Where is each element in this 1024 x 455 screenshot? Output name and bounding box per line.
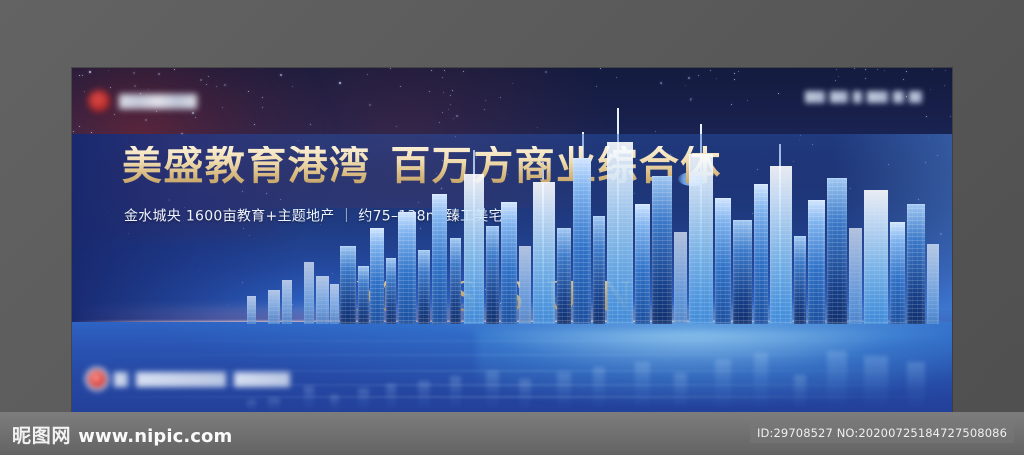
- star: [877, 69, 878, 70]
- star: [73, 131, 74, 132]
- star: [450, 104, 451, 105]
- contact-suffix-block: [234, 372, 290, 387]
- skyline-building: [304, 262, 314, 324]
- star: [174, 69, 175, 70]
- skyline-building: [890, 222, 905, 324]
- building-reflection: [450, 376, 461, 412]
- skyline-building: [533, 182, 555, 324]
- building-reflection: [304, 386, 314, 412]
- star: [310, 124, 311, 125]
- skyline-building: [501, 202, 517, 324]
- star: [133, 72, 135, 74]
- skyline-building: [282, 280, 292, 324]
- building-reflection: [754, 353, 768, 412]
- star: [484, 109, 485, 110]
- skyline-building: [557, 228, 571, 324]
- contact-info: [88, 370, 290, 388]
- star: [690, 100, 691, 101]
- star: [222, 107, 223, 108]
- star: [248, 91, 249, 92]
- skyline-building: [907, 204, 925, 324]
- star: [158, 73, 160, 75]
- star: [369, 104, 371, 106]
- star: [685, 85, 686, 86]
- star: [926, 116, 927, 117]
- skyline-building: [418, 250, 430, 324]
- skyline-building: [464, 174, 484, 324]
- star: [485, 100, 486, 101]
- star: [906, 71, 907, 72]
- star: [280, 74, 282, 76]
- star: [903, 79, 904, 80]
- skyline-building: [486, 226, 499, 324]
- star: [854, 68, 855, 69]
- star: [439, 122, 440, 123]
- star: [192, 112, 194, 114]
- skyline-building: [652, 176, 672, 324]
- screenshot-stage: MISSUNI MISSUNI 美盛教育港湾百万方商业综合体 金水城央: [0, 0, 1024, 455]
- skyline-building: [450, 238, 461, 324]
- star: [884, 70, 885, 71]
- star: [200, 79, 202, 81]
- star: [254, 124, 255, 125]
- building-reflection: [794, 375, 806, 412]
- red-circle-logo-mark: [88, 90, 110, 112]
- star: [431, 70, 432, 71]
- star: [456, 115, 458, 117]
- skyline-building: [519, 246, 531, 324]
- star: [195, 117, 196, 118]
- star: [292, 86, 293, 87]
- star: [838, 76, 839, 77]
- skyline-building: [386, 258, 396, 324]
- logo-wordmark: [119, 94, 197, 109]
- skyline-building: [635, 204, 650, 324]
- star: [224, 84, 226, 86]
- watermark-branding: 昵图网 www.nipic.com: [12, 421, 232, 448]
- star: [82, 75, 83, 76]
- star: [600, 68, 601, 69]
- star: [731, 104, 732, 105]
- star: [262, 97, 263, 98]
- star: [216, 86, 217, 87]
- watermark-image-id: ID:29708527 NO:20200725184727508086: [750, 423, 1014, 443]
- star: [339, 82, 341, 84]
- star: [262, 107, 263, 108]
- star: [655, 131, 656, 132]
- skyline-building: [370, 228, 384, 324]
- skyline-building: [715, 198, 731, 324]
- star: [734, 73, 735, 74]
- star: [698, 75, 699, 76]
- phone-circle-icon: [88, 370, 106, 388]
- skyline-building: [927, 244, 939, 324]
- star: [710, 70, 711, 71]
- star: [537, 127, 538, 128]
- star: [448, 109, 449, 110]
- watermark-bar: 昵图网 www.nipic.com ID:29708527 NO:2020072…: [0, 412, 1024, 455]
- star: [835, 80, 836, 81]
- skyline-building: [316, 276, 329, 324]
- tagline-block-2: [830, 91, 848, 103]
- water-streak: [72, 396, 952, 398]
- star: [950, 116, 951, 117]
- star: [463, 71, 464, 72]
- star: [110, 87, 111, 88]
- star: [865, 78, 866, 79]
- star: [442, 77, 443, 78]
- star: [660, 82, 662, 84]
- skyline-building: [340, 246, 356, 324]
- star: [778, 93, 779, 94]
- star: [208, 76, 209, 77]
- contact-prefix-block: [114, 372, 128, 387]
- star: [944, 85, 945, 86]
- star: [616, 77, 617, 78]
- skyline-building: [808, 200, 825, 324]
- poster-image: MISSUNI MISSUNI 美盛教育港湾百万方商业综合体 金水城央: [72, 68, 952, 412]
- star: [443, 92, 444, 93]
- star: [134, 85, 136, 87]
- developer-logo: [88, 90, 197, 112]
- skyline-building: [733, 220, 752, 324]
- star: [390, 68, 391, 69]
- skyline-building: [268, 290, 280, 324]
- water-streak: [72, 340, 952, 342]
- star: [545, 71, 547, 73]
- headline-part-1: 美盛教育港湾: [122, 143, 370, 189]
- star: [865, 69, 866, 70]
- skyline-building: [398, 212, 416, 324]
- star: [688, 77, 690, 79]
- star: [836, 69, 837, 70]
- star: [367, 74, 368, 75]
- skyline-building: [607, 142, 633, 324]
- star: [84, 91, 85, 92]
- building-reflection: [386, 384, 396, 412]
- skyline-building: [794, 236, 806, 324]
- star: [442, 112, 443, 113]
- top-right-tagline: [805, 91, 922, 103]
- skyline-building: [864, 190, 888, 324]
- star: [690, 98, 692, 100]
- tagline-block-3: [853, 91, 862, 103]
- star: [91, 132, 92, 133]
- skyline-building: [754, 184, 768, 324]
- star: [145, 119, 147, 121]
- tagline-block-6: [909, 91, 922, 103]
- skyline-building: [593, 216, 605, 324]
- building-reflection: [557, 372, 571, 412]
- building-reflection: [486, 371, 499, 412]
- star: [512, 83, 513, 84]
- watermark-site-url[interactable]: www.nipic.com: [78, 426, 232, 447]
- star: [206, 84, 207, 85]
- star: [932, 69, 933, 70]
- skyline-building: [247, 296, 256, 324]
- star: [453, 118, 454, 119]
- star: [444, 70, 445, 71]
- star: [596, 86, 597, 87]
- tagline-block-1: [805, 91, 825, 103]
- star: [79, 126, 80, 127]
- tagline-block-5: [893, 91, 904, 103]
- star: [500, 97, 501, 98]
- subline-prefix: 金水城央 1600亩教育+主题地产 ｜ 约75–138m: [124, 209, 440, 225]
- watermark-site-name-cn: 昵图网: [12, 421, 71, 448]
- tagline-block-4: [867, 91, 888, 103]
- water-surface: [72, 322, 952, 412]
- star: [450, 95, 451, 96]
- skyline-building: [827, 178, 847, 324]
- star: [108, 70, 109, 71]
- skyline-building: [573, 158, 591, 324]
- star: [945, 70, 946, 71]
- building-reflection: [268, 398, 280, 412]
- star: [400, 86, 401, 87]
- building-reflection: [674, 373, 687, 412]
- skyline-building: [849, 228, 862, 324]
- building-reflection: [358, 388, 369, 412]
- star: [734, 79, 735, 80]
- skyline-building: [358, 266, 369, 324]
- star: [747, 100, 748, 101]
- skyline-building: [432, 194, 447, 324]
- star: [89, 71, 91, 73]
- star: [114, 114, 115, 115]
- building-reflection: [827, 351, 847, 412]
- star: [79, 75, 80, 76]
- water-streak: [72, 354, 952, 356]
- star: [429, 91, 430, 92]
- star: [738, 71, 739, 72]
- building-reflection: [247, 400, 256, 412]
- skyline-building: [330, 284, 339, 324]
- skyline-building: [770, 166, 792, 324]
- star: [930, 89, 931, 90]
- building-reflection: [593, 367, 605, 412]
- star: [396, 126, 397, 127]
- skyline-building: [689, 154, 713, 324]
- star: [452, 90, 453, 91]
- star: [716, 78, 717, 79]
- contact-phone-block: [136, 372, 226, 387]
- skyline-building: [674, 232, 687, 324]
